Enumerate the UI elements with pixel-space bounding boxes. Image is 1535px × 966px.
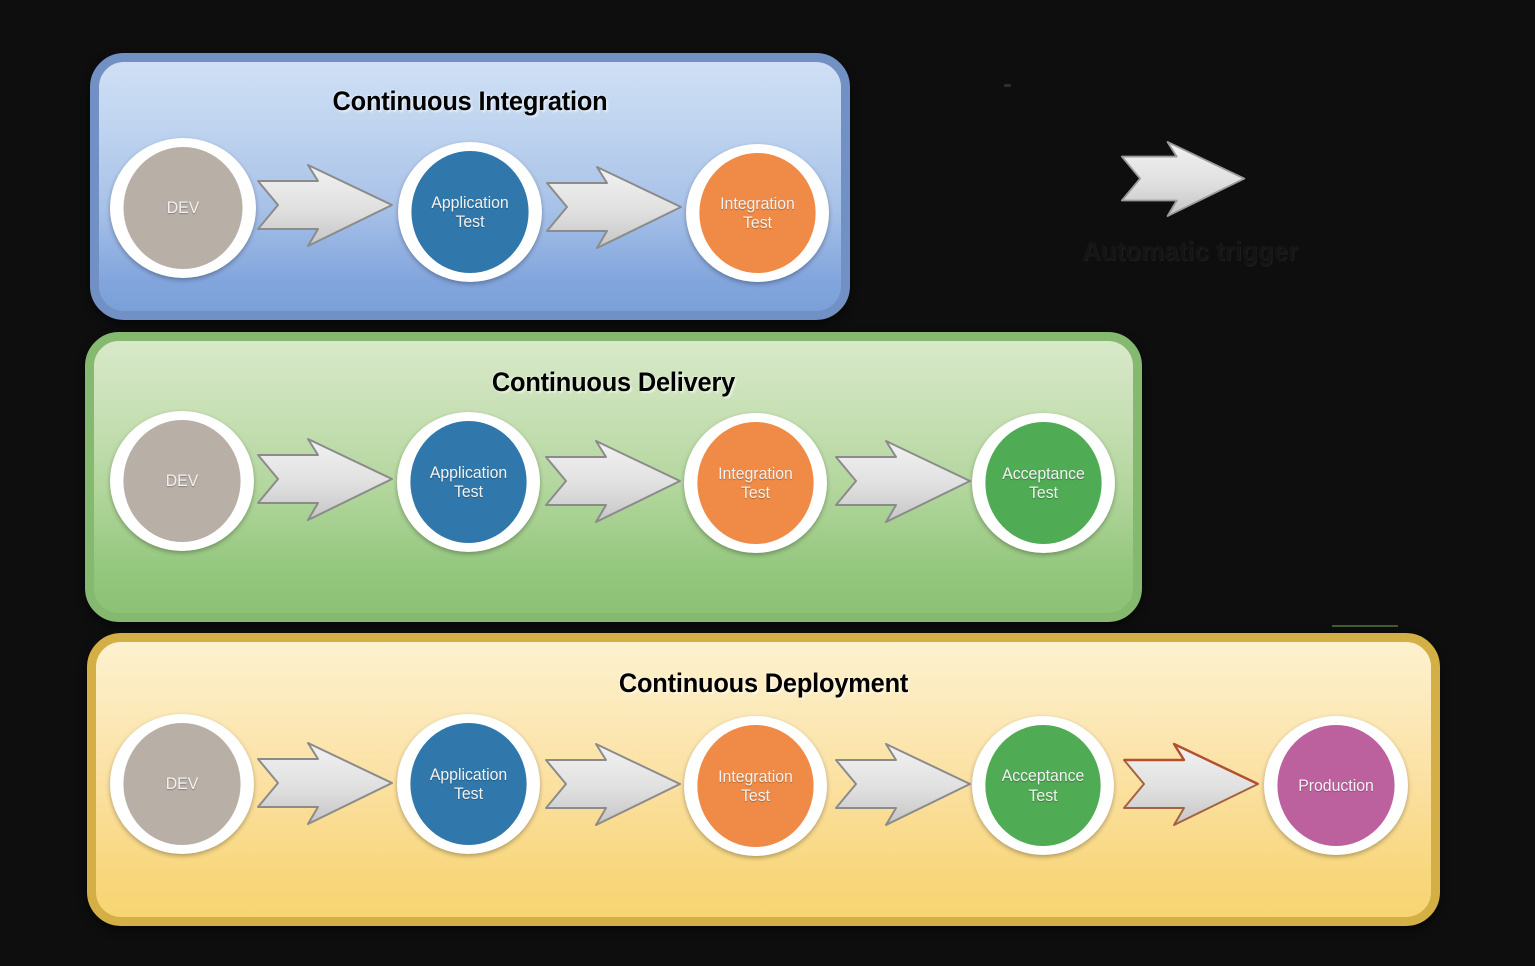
- panel-title-continuous-delivery: Continuous Delivery: [125, 367, 1102, 398]
- arrow-integration-test-to-acceptance-test-cdel: [834, 439, 974, 524]
- arrow-application-test-to-integration-test-cdep: [544, 742, 684, 827]
- node-application-test-cdel-label: ApplicationTest: [410, 421, 526, 543]
- node-production-cdep-label: Production: [1277, 725, 1394, 846]
- node-application-test-ci-label: ApplicationTest: [411, 151, 528, 273]
- node-integration-test-cdel-label: IntegrationTest: [697, 422, 813, 544]
- arrow-application-test-to-integration-test-ci: [545, 165, 685, 250]
- node-application-test-cdep-label: ApplicationTest: [410, 723, 526, 845]
- node-acceptance-test-cdep[interactable]: AcceptanceTest: [972, 716, 1114, 855]
- node-acceptance-test-cdel-label: AcceptanceTest: [985, 422, 1101, 544]
- node-dev-cdel-label: DEV: [123, 420, 240, 542]
- right-arrow-icon: [1120, 140, 1248, 223]
- arrow-dev-to-application-test-cdep: [256, 741, 396, 826]
- node-integration-test-cdep-label: IntegrationTest: [697, 725, 813, 847]
- node-dev-cdep-label: DEV: [123, 723, 240, 845]
- arrow-dev-to-application-test-cdel: [256, 437, 396, 522]
- node-acceptance-test-cdep-label: AcceptanceTest: [985, 725, 1100, 846]
- arrow-dev-to-application-test-ci: [256, 163, 396, 248]
- node-dev-ci[interactable]: DEV: [110, 138, 256, 278]
- node-dev-cdel[interactable]: DEV: [110, 411, 254, 551]
- node-production-cdep[interactable]: Production: [1264, 716, 1408, 855]
- node-dev-ci-label: DEV: [123, 147, 242, 269]
- node-integration-test-cdel[interactable]: IntegrationTest: [684, 413, 827, 553]
- arrow-integration-test-to-acceptance-test-cdep: [834, 742, 974, 827]
- arrow-acceptance-test-to-production-cdep: [1122, 742, 1262, 827]
- stray-line-artifact: [1332, 625, 1398, 627]
- node-application-test-cdel[interactable]: ApplicationTest: [397, 412, 540, 552]
- panel-title-continuous-integration: Continuous Integration: [121, 86, 818, 117]
- node-acceptance-test-cdel[interactable]: AcceptanceTest: [972, 413, 1115, 553]
- panel-title-continuous-deployment: Continuous Deployment: [136, 668, 1391, 699]
- arrow-application-test-to-integration-test-cdel: [544, 439, 684, 524]
- diagram-canvas: Continuous Integration DEV ApplicationTe…: [0, 0, 1535, 966]
- node-integration-test-ci-label: IntegrationTest: [699, 153, 815, 273]
- legend-label: Automatic trigger: [1070, 236, 1310, 267]
- node-application-test-cdep[interactable]: ApplicationTest: [397, 714, 540, 854]
- node-application-test-ci[interactable]: ApplicationTest: [398, 142, 542, 282]
- node-integration-test-cdep[interactable]: IntegrationTest: [684, 716, 827, 856]
- node-integration-test-ci[interactable]: IntegrationTest: [686, 144, 829, 282]
- stray-speck: [1004, 84, 1011, 87]
- node-dev-cdep[interactable]: DEV: [110, 714, 254, 854]
